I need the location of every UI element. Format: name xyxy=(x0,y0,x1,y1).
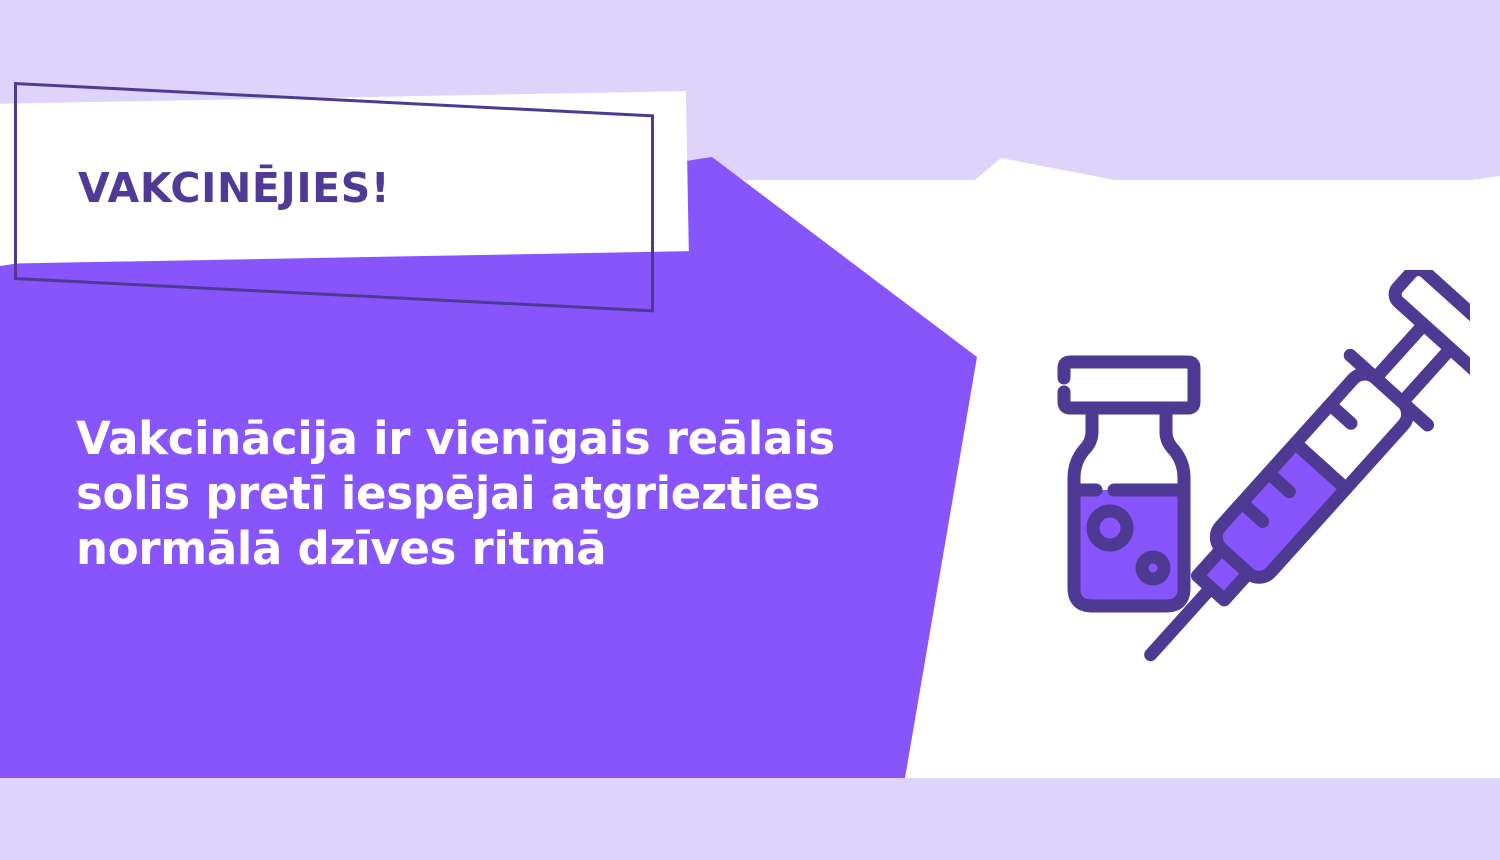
syringe-graduation-mark-1 xyxy=(1330,405,1351,424)
page-title: VAKCINĒJIES! xyxy=(78,168,390,209)
message-line-1: Vakcinācija ir vienīgais reālais xyxy=(76,412,906,467)
vial-liquid-fill xyxy=(1074,490,1184,606)
vial-cap-outline xyxy=(1064,362,1194,408)
poster-canvas: VAKCINĒJIES! Vakcinācija ir vienīgais re… xyxy=(0,0,1500,860)
message-text-block: Vakcinācija ir vienīgais reālais solis p… xyxy=(76,412,906,577)
message-line-2: solis pretī iespējai atgriezties xyxy=(76,467,906,522)
vaccine-vial-and-syringe-illustration xyxy=(1030,270,1470,690)
syringe-icon xyxy=(1105,270,1470,690)
message-line-3: normālā dzīves ritmā xyxy=(76,522,906,577)
vaccine-vial-icon xyxy=(1064,362,1194,606)
